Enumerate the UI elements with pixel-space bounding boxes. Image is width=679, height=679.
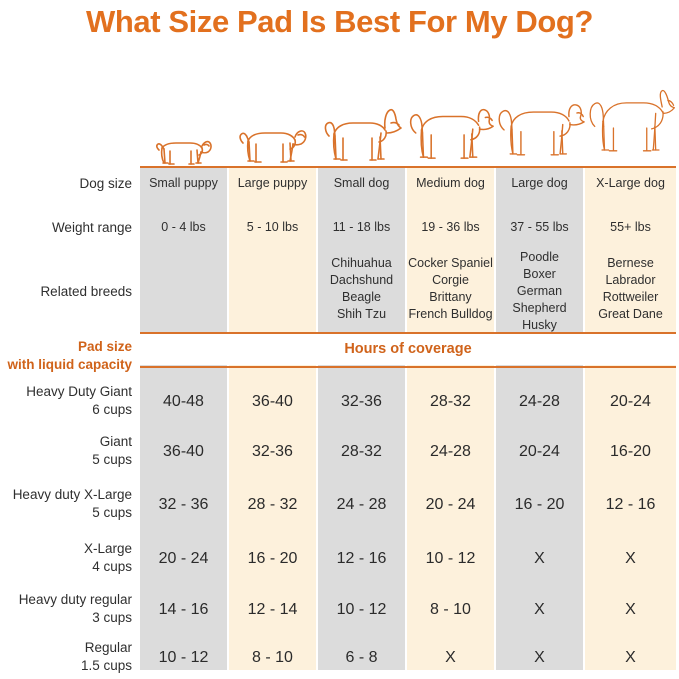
cell-hours-r1-c2: 28-32 [318, 441, 405, 462]
breed-name: Cocker Spaniel [407, 255, 494, 272]
pad-size-capacity: 6 cups [0, 401, 132, 419]
pad-row-label-0: Heavy Duty Giant6 cups [0, 383, 132, 418]
cell-hours-r2-c2: 24 - 28 [318, 494, 405, 515]
cell-hours-r2-c1: 28 - 32 [229, 494, 316, 515]
cell-hours-r5-c1: 8 - 10 [229, 647, 316, 668]
breed-name: German [496, 283, 583, 300]
cell-hours-r4-c5: X [585, 599, 676, 620]
cell-breeds-5: BerneseLabradorRottweilerGreat Dane [585, 255, 676, 323]
pad-size-capacity: 5 cups [0, 504, 132, 522]
breed-name: Shih Tzu [318, 306, 405, 323]
breed-name: Rottweiler [585, 289, 676, 306]
breed-name: Great Dane [585, 306, 676, 323]
row-label-pad-size: Pad size with liquid capacity [0, 338, 132, 373]
cell-dog-size-3: Medium dog [407, 175, 494, 192]
cell-hours-r3-c0: 20 - 24 [140, 548, 227, 569]
row-label-related-breeds: Related breeds [0, 283, 132, 301]
cell-breeds-3: Cocker SpanielCorgieBrittanyFrench Bulld… [407, 255, 494, 323]
pad-size-capacity: 5 cups [0, 451, 132, 469]
cell-hours-r1-c3: 24-28 [407, 441, 494, 462]
cell-hours-r3-c5: X [585, 548, 676, 569]
cell-hours-r0-c3: 28-32 [407, 391, 494, 412]
cell-dog-size-4: Large dog [496, 175, 583, 192]
breed-name: Dachshund [318, 272, 405, 289]
cell-hours-r0-c1: 36-40 [229, 391, 316, 412]
cell-hours-r1-c4: 20-24 [496, 441, 583, 462]
breed-name: Beagle [318, 289, 405, 306]
breed-name: Labrador [585, 272, 676, 289]
cell-dog-size-2: Small dog [318, 175, 405, 192]
pad-size-capacity: 4 cups [0, 558, 132, 576]
divider-below-hours [140, 366, 676, 368]
cell-hours-r4-c0: 14 - 16 [140, 599, 227, 620]
pad-row-label-4: Heavy duty regular3 cups [0, 591, 132, 626]
cell-hours-r0-c2: 32-36 [318, 391, 405, 412]
cell-weight-0: 0 - 4 lbs [140, 219, 227, 236]
divider-above-hours [140, 332, 676, 334]
cell-hours-r0-c5: 20-24 [585, 391, 676, 412]
cell-weight-4: 37 - 55 lbs [496, 219, 583, 236]
breed-name: Husky [496, 317, 583, 334]
hours-of-coverage-header: Hours of coverage [140, 341, 676, 357]
breed-name: Bernese [585, 255, 676, 272]
cell-hours-r5-c4: X [496, 647, 583, 668]
cell-breeds-4: PoodleBoxerGermanShepherdHusky [496, 249, 583, 334]
pad-row-label-2: Heavy duty X-Large5 cups [0, 486, 132, 521]
pad-size-line-2: with liquid capacity [7, 357, 132, 372]
pad-row-label-3: X-Large4 cups [0, 540, 132, 575]
cell-hours-r1-c0: 36-40 [140, 441, 227, 462]
dog-large-puppy-icon [229, 113, 318, 167]
cell-dog-size-0: Small puppy [140, 175, 227, 192]
cell-hours-r5-c0: 10 - 12 [140, 647, 227, 668]
breed-name: Corgie [407, 272, 494, 289]
pad-size-name: X-Large [0, 540, 132, 558]
cell-dog-size-5: X-Large dog [585, 175, 676, 192]
column-background-large-puppy [229, 168, 316, 670]
cell-hours-r3-c3: 10 - 12 [407, 548, 494, 569]
column-background-small-dog [318, 168, 405, 670]
dog-xlarge-icon [585, 81, 676, 167]
breed-name: French Bulldog [407, 306, 494, 323]
cell-hours-r3-c1: 16 - 20 [229, 548, 316, 569]
pad-row-label-5: Regular1.5 cups [0, 639, 132, 674]
breed-name: Shepherd [496, 300, 583, 317]
pad-size-name: Regular [0, 639, 132, 657]
cell-hours-r5-c2: 6 - 8 [318, 647, 405, 668]
row-label-dog-size: Dog size [0, 175, 132, 193]
dog-small-puppy-icon [140, 123, 229, 167]
breed-name: Brittany [407, 289, 494, 306]
pad-row-label-1: Giant5 cups [0, 433, 132, 468]
cell-weight-2: 11 - 18 lbs [318, 219, 405, 236]
column-background-large-dog [496, 168, 583, 670]
dog-medium-icon [407, 97, 496, 167]
cell-hours-r4-c1: 12 - 14 [229, 599, 316, 620]
cell-weight-5: 55+ lbs [585, 219, 676, 236]
pad-size-name: Giant [0, 433, 132, 451]
cell-hours-r5-c3: X [407, 647, 494, 668]
breed-name: Chihuahua [318, 255, 405, 272]
column-background-medium-dog [407, 168, 494, 670]
cell-hours-r2-c0: 32 - 36 [140, 494, 227, 515]
cell-weight-1: 5 - 10 lbs [229, 219, 316, 236]
breed-name: Boxer [496, 266, 583, 283]
cell-weight-3: 19 - 36 lbs [407, 219, 494, 236]
cell-hours-r1-c1: 32-36 [229, 441, 316, 462]
cell-hours-r4-c3: 8 - 10 [407, 599, 494, 620]
breed-name: Poodle [496, 249, 583, 266]
dog-large-icon [496, 91, 585, 167]
pad-size-capacity: 1.5 cups [0, 657, 132, 675]
pad-size-name: Heavy duty regular [0, 591, 132, 609]
cell-hours-r0-c0: 40-48 [140, 391, 227, 412]
cell-hours-r2-c4: 16 - 20 [496, 494, 583, 515]
cell-hours-r0-c4: 24-28 [496, 391, 583, 412]
pad-size-capacity: 3 cups [0, 609, 132, 627]
dog-silhouette-row [140, 78, 676, 167]
column-background-xlarge-dog [585, 168, 676, 670]
cell-hours-r2-c3: 20 - 24 [407, 494, 494, 515]
pad-size-name: Heavy Duty Giant [0, 383, 132, 401]
cell-breeds-2: ChihuahuaDachshundBeagleShih Tzu [318, 255, 405, 323]
cell-hours-r4-c4: X [496, 599, 583, 620]
dog-small-icon [318, 103, 407, 167]
cell-hours-r3-c2: 12 - 16 [318, 548, 405, 569]
pad-size-name: Heavy duty X-Large [0, 486, 132, 504]
cell-hours-r4-c2: 10 - 12 [318, 599, 405, 620]
cell-dog-size-1: Large puppy [229, 175, 316, 192]
size-chart-table: Dog size Small puppy Large puppy Small d… [0, 0, 679, 679]
cell-hours-r1-c5: 16-20 [585, 441, 676, 462]
cell-hours-r2-c5: 12 - 16 [585, 494, 676, 515]
row-label-weight-range: Weight range [0, 219, 132, 237]
cell-hours-r5-c5: X [585, 647, 676, 668]
column-background-small-puppy [140, 168, 227, 670]
pad-size-line-1: Pad size [78, 339, 132, 354]
cell-hours-r3-c4: X [496, 548, 583, 569]
